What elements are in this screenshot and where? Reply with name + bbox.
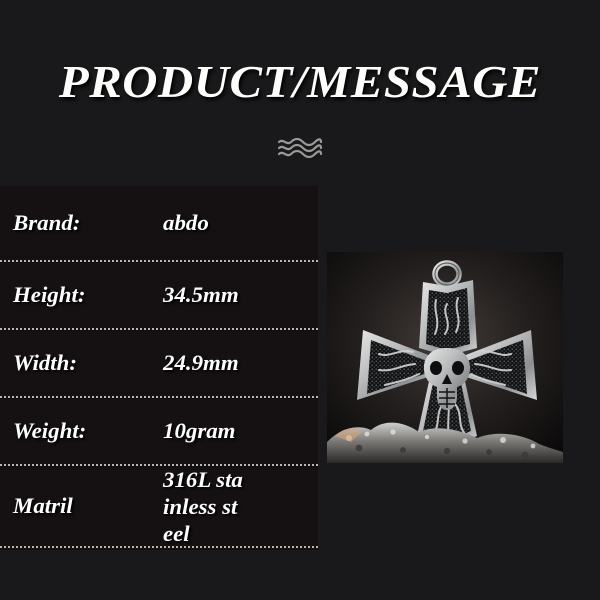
product-message-page: PRODUCT/MESSAGE Brand: abdo Height: 34.5… — [0, 0, 600, 600]
spec-label: Brand: — [13, 210, 169, 236]
page-header: PRODUCT/MESSAGE — [0, 55, 600, 109]
spec-value: 34.5mm — [163, 282, 324, 308]
page-title: PRODUCT/MESSAGE — [0, 55, 600, 109]
wave-divider-icon — [0, 133, 600, 163]
product-photo — [327, 252, 563, 463]
skull-flame-cross-pendant-image — [327, 252, 563, 463]
spec-label: Height: — [13, 282, 169, 308]
spec-table: Brand: abdo Height: 34.5mm Width: 24.9mm… — [0, 186, 318, 550]
table-row: Matril 316L sta inless st eel — [0, 466, 318, 548]
spec-value: abdo — [163, 210, 324, 236]
spec-label: Width: — [13, 350, 169, 376]
table-row: Brand: abdo — [0, 186, 318, 262]
spec-label: Weight: — [13, 418, 169, 444]
spec-value: 10gram — [163, 418, 324, 444]
spec-value: 316L sta inless st eel — [163, 466, 324, 547]
spec-label: Matril — [13, 493, 169, 519]
spec-value: 24.9mm — [163, 350, 324, 376]
table-row: Width: 24.9mm — [0, 330, 318, 398]
table-row: Height: 34.5mm — [0, 262, 318, 330]
table-row: Weight: 10gram — [0, 398, 318, 466]
